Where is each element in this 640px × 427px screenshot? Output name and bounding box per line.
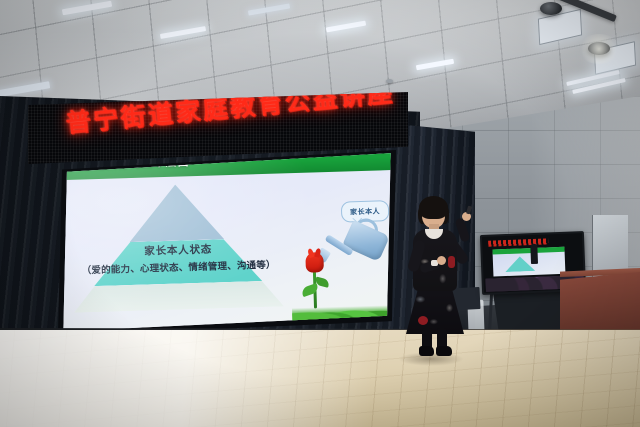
presenter-hand-lowered: [437, 256, 446, 265]
monitor-slide-preview: [492, 247, 565, 277]
presenter-boot: [436, 346, 452, 356]
speech-bubble-text: 家长本人: [350, 206, 380, 217]
monitor-presenter-figure: [530, 244, 538, 264]
monitor-led-banner: [488, 238, 548, 246]
presenter-skirt: [406, 286, 464, 334]
spotlight: [540, 2, 562, 15]
projector-light-spill: [0, 330, 370, 427]
spotlight-glow: [578, 34, 620, 64]
tulip-flower-icon: [305, 252, 324, 273]
slide-clipart: 家长本人: [289, 200, 392, 321]
projection-screen: 家庭教育的三个层面 家长本人状态 （爱的能力、心理状态、情绪管理、沟通等） 家长…: [62, 152, 392, 332]
presenter-boot: [419, 346, 434, 356]
watering-can-icon: [342, 220, 390, 262]
slide: 家庭教育的三个层面 家长本人状态 （爱的能力、心理状态、情绪管理、沟通等） 家长…: [62, 152, 392, 332]
presenter: [396, 196, 480, 362]
presentation-clicker: [466, 206, 472, 215]
pyramid-tier-top: [70, 181, 282, 243]
presenter-forearm-raised: [455, 217, 471, 243]
presenter-dress-accent: [418, 316, 428, 325]
presenter-dress-accent: [448, 256, 455, 268]
stage-floor: [0, 330, 640, 427]
monitor-slide-title-bar: [492, 247, 564, 255]
presenter-hair: [419, 196, 448, 219]
photo-scene: 普宁街道家庭教育公益讲座 家庭教育的三个层面 家长本人状态 （爱的能力、心理状态…: [0, 0, 640, 427]
smoke-detector-icon: [386, 79, 393, 83]
